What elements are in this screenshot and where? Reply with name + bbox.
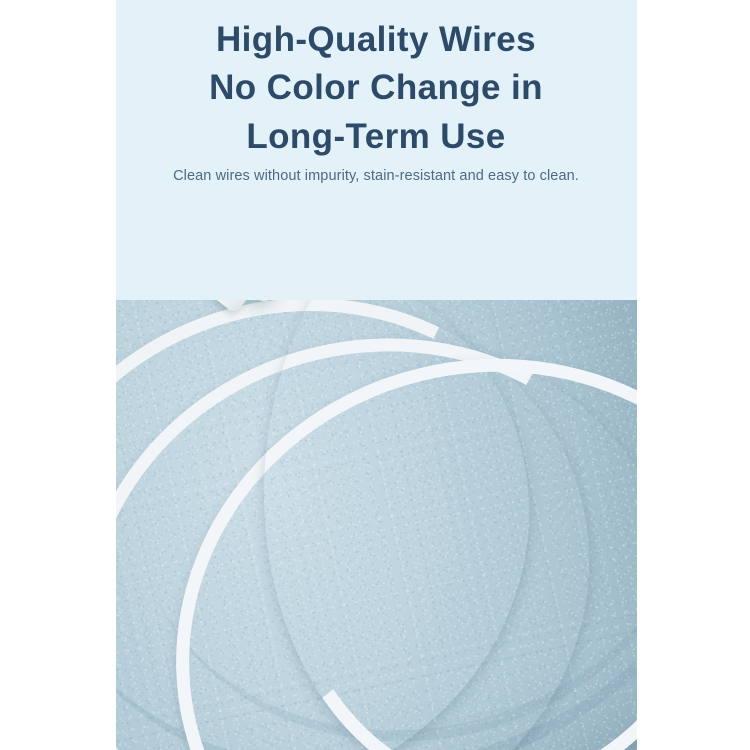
headline-line-2: No Color Change in [115, 64, 637, 112]
page-title: High-Quality Wires No Color Change in Lo… [115, 16, 637, 161]
left-margin [0, 0, 116, 750]
right-margin [637, 0, 750, 750]
headline-line-3: Long-Term Use [115, 113, 637, 161]
product-marketing-image: rock space rock space High-Quality Wires… [0, 0, 750, 750]
headline-banner: High-Quality Wires No Color Change in Lo… [115, 0, 637, 300]
headline-line-1: High-Quality Wires [115, 16, 637, 64]
subheadline: Clean wires without impurity, stain-resi… [115, 168, 637, 184]
